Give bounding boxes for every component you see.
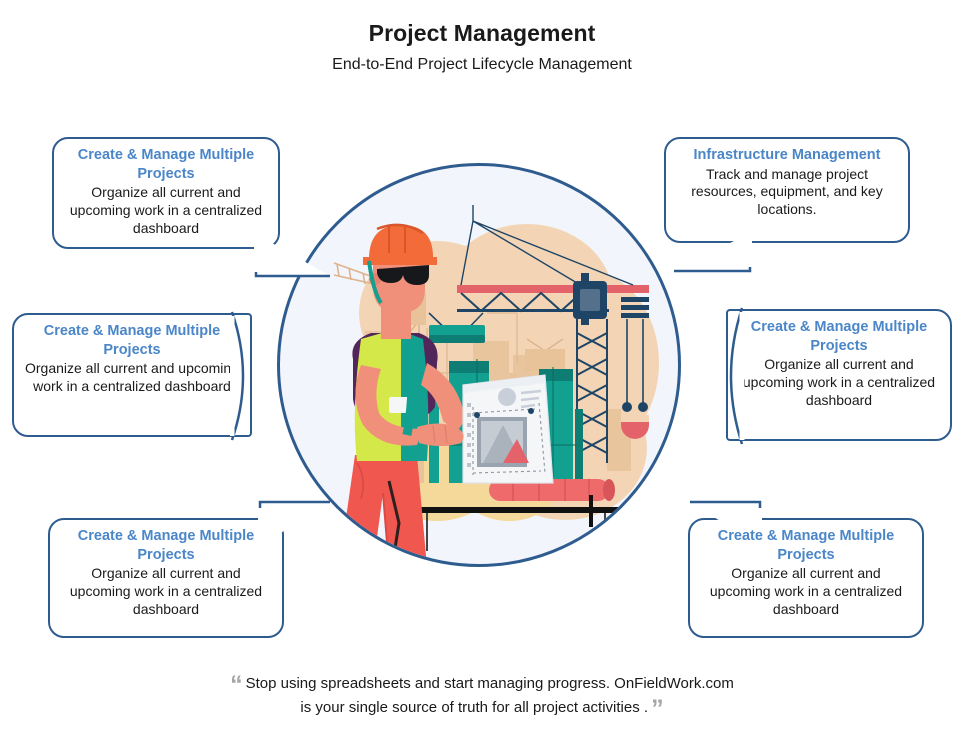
callout-heading-bottom-left: Create & Manage Multiple Projects: [60, 527, 272, 564]
quote-line-1: Stop using spreadsheets and start managi…: [246, 675, 734, 692]
callout-middle-right[interactable]: Create & Manage Multiple Projects Organi…: [726, 309, 952, 441]
infographic-canvas: Project Management End-to-End Project Li…: [0, 0, 964, 734]
callout-top-right[interactable]: Infrastructure Management Track and mana…: [664, 137, 910, 243]
callout-middle-left[interactable]: Create & Manage Multiple Projects Organi…: [12, 313, 252, 437]
callout-heading-bottom-right: Create & Manage Multiple Projects: [700, 527, 912, 564]
callout-text-top-left: Organize all current and upcoming work i…: [64, 184, 268, 238]
page-subtitle: End-to-End Project Lifecycle Management: [0, 56, 964, 74]
callout-text-bottom-right: Organize all current and upcoming work i…: [700, 565, 912, 619]
quote-open-icon: “: [230, 671, 243, 699]
callout-heading-top-right: Infrastructure Management: [676, 146, 898, 165]
callout-heading-middle-right: Create & Manage Multiple Projects: [738, 318, 940, 355]
callout-heading-top-left: Create & Manage Multiple Projects: [64, 146, 268, 183]
callout-text-top-right: Track and manage project resources, equi…: [676, 166, 898, 220]
callout-tail-top-right: [634, 227, 754, 287]
callout-bottom-right[interactable]: Create & Manage Multiple Projects Organi…: [688, 518, 924, 638]
callout-text-bottom-left: Organize all current and upcoming work i…: [60, 565, 272, 619]
callout-heading-middle-left: Create & Manage Multiple Projects: [24, 322, 240, 359]
callout-top-left[interactable]: Create & Manage Multiple Projects Organi…: [52, 137, 280, 249]
footer-quote: “Stop using spreadsheets and start manag…: [0, 672, 964, 720]
callout-tail-middle-left: [230, 310, 264, 447]
quote-line-2: is your single source of truth for all p…: [300, 699, 648, 716]
callout-bottom-left[interactable]: Create & Manage Multiple Projects Organi…: [48, 518, 284, 638]
quote-close-icon: ”: [651, 695, 664, 723]
callout-text-middle-right: Organize all current and upcoming work i…: [738, 356, 940, 410]
callout-tail-middle-right: [712, 306, 746, 451]
page-title: Project Management: [0, 20, 964, 47]
callout-text-middle-left: Organize all current and upcoming work i…: [24, 360, 240, 396]
